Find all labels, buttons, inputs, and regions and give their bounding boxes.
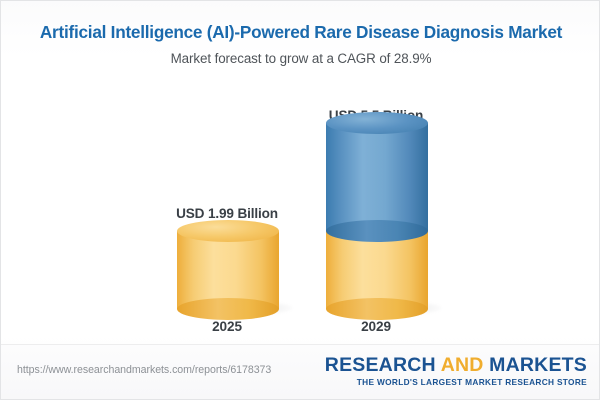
segment-bottom-cap [177,298,279,320]
category-label-2029: 2029 [296,319,456,334]
cylinder-bar-2029 [326,123,428,309]
segment-bottom-cap [326,298,428,320]
logo-word-markets: MARKETS [489,354,587,376]
chart-footer: https://www.researchandmarkets.com/repor… [1,344,600,399]
chart-header: Artificial Intelligence (AI)-Powered Rar… [1,1,600,68]
bar-value-label-2025: USD 1.99 Billion [147,206,307,221]
segment-body [326,123,428,231]
chart-card: Artificial Intelligence (AI)-Powered Rar… [0,0,600,400]
segment-top-cap [326,112,428,134]
category-label-2025: 2025 [147,319,307,334]
source-url[interactable]: https://www.researchandmarkets.com/repor… [17,364,271,376]
cylinder-bar-2025 [177,231,279,309]
segment-top-cap [177,220,279,242]
chart-subtitle: Market forecast to grow at a CAGR of 28.… [1,50,600,68]
logo-word-research: RESEARCH [325,354,436,376]
chart-plot-area: USD 1.99 Billion 2025 USD 5.5 Billion [1,87,600,339]
bar-segment-base-2029 [326,231,428,309]
page-title: Artificial Intelligence (AI)-Powered Rar… [1,21,600,43]
logo-word-and: AND [436,354,489,376]
logo-tagline: THE WORLD'S LARGEST MARKET RESEARCH STOR… [325,377,587,387]
bar-segment-growth-2029 [326,123,428,231]
segment-bottom-cap [326,220,428,242]
logo-wordmark: RESEARCH AND MARKETS [325,355,587,376]
research-and-markets-logo[interactable]: RESEARCH AND MARKETS THE WORLD'S LARGEST… [325,355,587,387]
bar-segment-base-2025 [177,231,279,309]
